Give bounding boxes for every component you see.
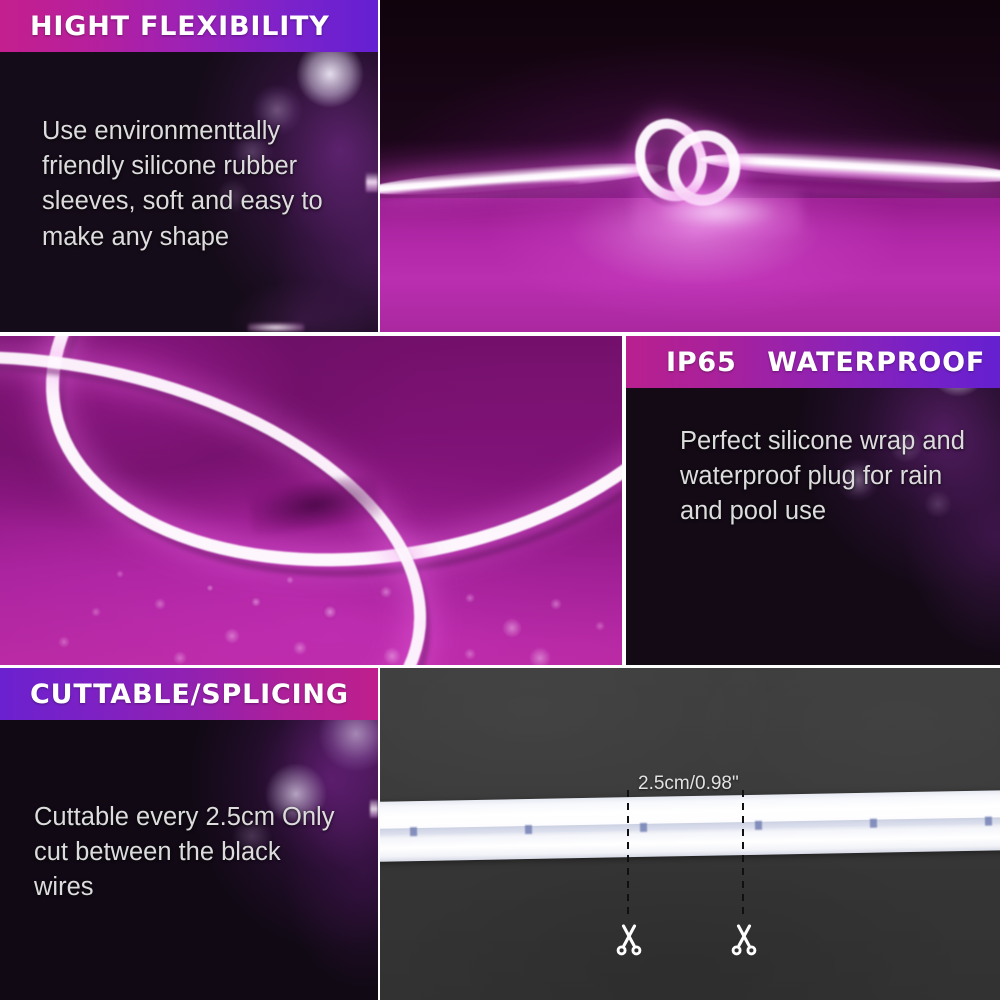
panel-waterproof: IP65 WATERPROOF Perfect silicone wrap an… xyxy=(626,336,1000,665)
panel-cut-marks-diagram: 2.5cm/0.98" xyxy=(380,668,1000,1000)
flexibility-body-text: Use environmenttally friendly silicone r… xyxy=(42,114,360,255)
flexibility-header-label: HIGHT FLEXIBILITY xyxy=(30,11,330,42)
cuttable-header-ribbon: CUTTABLE/SPLICING xyxy=(0,668,378,720)
white-led-strip xyxy=(380,790,1000,862)
seam-row2-vertical xyxy=(622,336,626,665)
seam-row1-vertical xyxy=(378,0,380,332)
cut-guide-line-1 xyxy=(627,790,629,920)
seam-row3-vertical xyxy=(378,668,380,1000)
waterproof-header-label: IP65 WATERPROOF xyxy=(666,347,985,378)
flexibility-header-ribbon: HIGHT FLEXIBILITY xyxy=(0,0,378,52)
led-strip-glow-sliver xyxy=(370,800,378,818)
cuttable-header-label: CUTTABLE/SPLICING xyxy=(30,679,349,710)
knot-reflection-hotspot xyxy=(632,186,802,238)
cut-guide-line-2 xyxy=(742,790,744,920)
cut-interval-label: 2.5cm/0.98" xyxy=(638,773,739,795)
water-droplets xyxy=(0,336,622,665)
photo-neon-strip-knot xyxy=(380,0,1000,332)
photo-crossing-strips-wet-surface xyxy=(0,336,622,665)
scissors-icon xyxy=(729,923,759,957)
waterproof-body-text: Perfect silicone wrap and waterproof plu… xyxy=(680,424,990,530)
led-strip-glow-sliver-bottom xyxy=(248,323,304,332)
product-feature-infographic: HIGHT FLEXIBILITY Use environmenttally f… xyxy=(0,0,1000,1000)
scissors-icon xyxy=(614,923,644,957)
seam-row1-row2 xyxy=(0,332,1000,336)
cuttable-body-text: Cuttable every 2.5cm Only cut between th… xyxy=(34,800,364,906)
panel-cuttable: CUTTABLE/SPLICING Cuttable every 2.5cm O… xyxy=(0,668,378,1000)
panel-flexibility: HIGHT FLEXIBILITY Use environmenttally f… xyxy=(0,0,378,332)
waterproof-header-ribbon: IP65 WATERPROOF xyxy=(626,336,1000,388)
led-strip-glow-sliver xyxy=(366,172,378,192)
seam-row2-row3 xyxy=(0,665,1000,668)
